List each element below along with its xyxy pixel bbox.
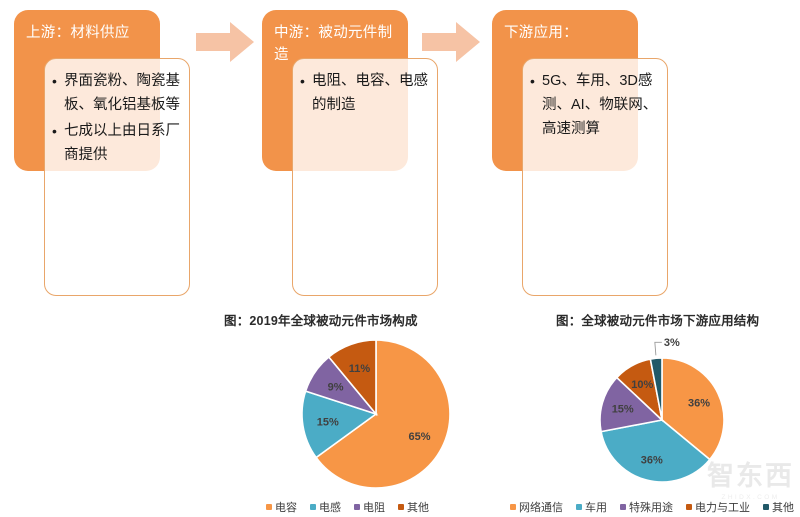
legend-item[interactable]: 电力与工业 [686,499,750,515]
legend-item[interactable]: 其他 [763,499,794,515]
infographic-canvas: 上游：材料供应 界面瓷粉、陶瓷基板、氧化铝基板等 七成以上由日系厂商提供 中游：… [0,0,800,517]
legend-label: 电感 [319,499,341,515]
legend-market-composition: 电容 电感 电阻 其他 [266,499,429,515]
legend-label: 电力与工业 [695,499,750,515]
svg-text:3%: 3% [664,337,680,349]
legend-label: 特殊用途 [629,499,673,515]
svg-text:36%: 36% [641,455,663,467]
legend-swatch-dianliyugongye [686,504,692,510]
list-item: 界面瓷粉、陶瓷基板、氧化铝基板等 [51,69,181,117]
legend-label: 网络通信 [519,499,563,515]
list-item: 5G、车用、3D感测、AI、物联网、高速测算 [529,69,659,141]
legend-label: 电容 [275,499,297,515]
stage-upstream-bullets: 界面瓷粉、陶瓷基板、氧化铝基板等 七成以上由日系厂商提供 [51,69,181,167]
stage-upstream-title: 上游：材料供应 [26,22,150,44]
legend-item[interactable]: 其他 [398,499,429,515]
pie-chart-downstream-application: 36%36%15%10%3% [584,336,754,491]
stage-midstream-bullets: 电阻、电容、电感的制造 [299,69,429,117]
legend-label: 其他 [407,499,429,515]
svg-text:15%: 15% [612,404,634,416]
legend-item[interactable]: 网络通信 [510,499,563,515]
stage-downstream-title: 下游应用： [504,22,628,44]
legend-swatch-dianrong [266,504,272,510]
legend-item[interactable]: 电阻 [354,499,385,515]
stage-upstream-body: 界面瓷粉、陶瓷基板、氧化铝基板等 七成以上由日系厂商提供 [44,58,190,296]
arrow-right-icon [422,22,480,62]
legend-label: 车用 [585,499,607,515]
stage-midstream-body: 电阻、电容、电感的制造 [292,58,438,296]
value-chain-diagram: 上游：材料供应 界面瓷粉、陶瓷基板、氧化铝基板等 七成以上由日系厂商提供 中游：… [0,0,800,300]
legend-item[interactable]: 特殊用途 [620,499,673,515]
legend-item[interactable]: 电容 [266,499,297,515]
pie-chart-market-composition: 65%15%9%11% [276,336,476,491]
svg-text:15%: 15% [317,417,339,429]
legend-swatch-teshuyongtu [620,504,626,510]
svg-text:9%: 9% [328,382,344,394]
chart-title-market-composition: 图：2019年全球被动元件市场构成 [224,310,418,329]
stage-downstream-bullets: 5G、车用、3D感测、AI、物联网、高速测算 [529,69,659,141]
legend-label: 电阻 [363,499,385,515]
svg-text:65%: 65% [409,431,431,443]
chart-title-downstream-application: 图：全球被动元件市场下游应用结构 [556,310,759,329]
legend-downstream-application: 网络通信 车用 特殊用途 电力与工业 其他 [510,499,794,515]
legend-swatch-cheyong [576,504,582,510]
legend-item[interactable]: 车用 [576,499,607,515]
list-item: 电阻、电容、电感的制造 [299,69,429,117]
legend-swatch-diangan [310,504,316,510]
legend-label: 其他 [772,499,794,515]
svg-text:36%: 36% [688,398,710,410]
svg-text:10%: 10% [631,379,653,391]
legend-swatch-dianzu [354,504,360,510]
legend-swatch-qita [398,504,404,510]
legend-item[interactable]: 电感 [310,499,341,515]
arrow-right-icon [196,22,254,62]
stage-downstream-body: 5G、车用、3D感测、AI、物联网、高速测算 [522,58,668,296]
legend-swatch-qita [763,504,769,510]
list-item: 七成以上由日系厂商提供 [51,119,181,167]
svg-text:11%: 11% [349,363,371,375]
legend-swatch-wangluotongxin [510,504,516,510]
